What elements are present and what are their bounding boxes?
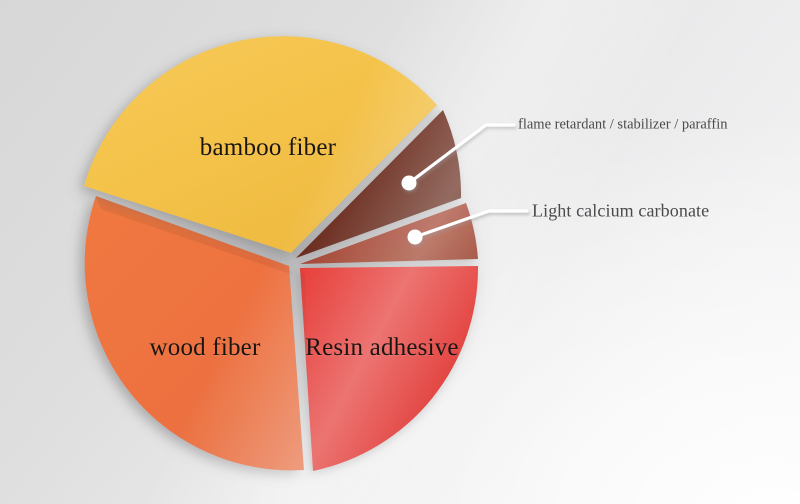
callout-label-flame-retardant: flame retardant / stabilizer / paraffin (518, 117, 727, 134)
slice-label-wood-fiber: wood fiber (150, 334, 261, 362)
slice-label-bamboo-fiber: bamboo fiber (200, 134, 336, 162)
slice-label-resin-adhesive: Resin adhesive (305, 334, 458, 362)
pie-chart (0, 0, 800, 504)
chart-canvas: bamboo fiber wood fiber Resin adhesive f… (0, 0, 800, 504)
callout-label-light-calcium-carbonate: Light calcium carbonate (532, 201, 709, 222)
